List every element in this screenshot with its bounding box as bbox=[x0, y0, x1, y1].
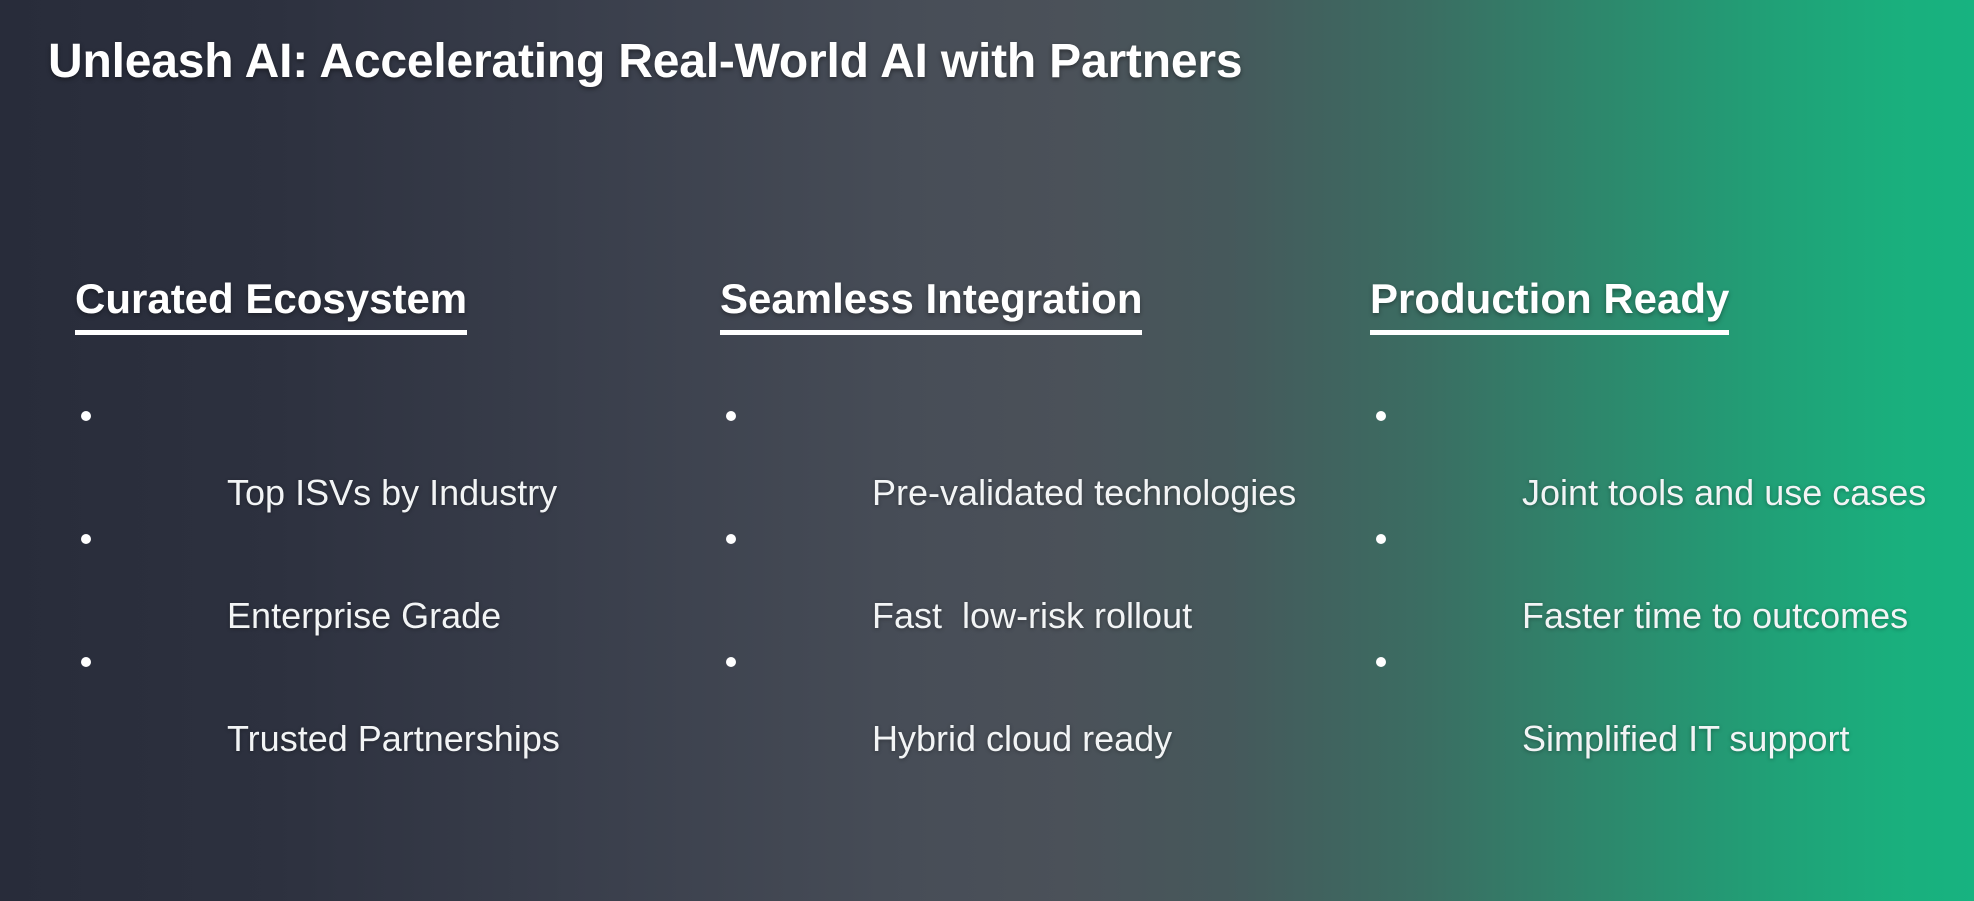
page-title: Unleash AI: Accelerating Real-World AI w… bbox=[48, 34, 1648, 89]
column-curated-ecosystem: Curated Ecosystem Top ISVs by Industry E… bbox=[75, 276, 675, 704]
list-item-label: Top ISVs by Industry bbox=[227, 475, 557, 511]
bullet-dot-icon bbox=[81, 657, 91, 667]
bullet-dot-icon bbox=[1376, 657, 1386, 667]
bullet-dot-icon bbox=[1376, 534, 1386, 544]
list-item-label: Fast low-risk rollout bbox=[872, 598, 1192, 634]
bullet-list: Top ISVs by Industry Enterprise Grade Tr… bbox=[75, 403, 675, 772]
column-heading: Production Ready bbox=[1370, 276, 1729, 335]
list-item-label: Simplified IT support bbox=[1522, 721, 1849, 757]
column-heading: Curated Ecosystem bbox=[75, 276, 467, 335]
bullet-dot-icon bbox=[1376, 411, 1386, 421]
list-item-label: Faster time to outcomes bbox=[1522, 598, 1908, 634]
column-seamless-integration: Seamless Integration Pre-validated techn… bbox=[720, 276, 1320, 704]
bullet-dot-icon bbox=[726, 657, 736, 667]
bullet-dot-icon bbox=[81, 534, 91, 544]
list-item: Fast low-risk rollout bbox=[720, 526, 1320, 649]
bullet-list: Pre-validated technologies Fast low-risk… bbox=[720, 403, 1320, 772]
column-production-ready: Production Ready Joint tools and use cas… bbox=[1370, 276, 1970, 704]
list-item: Enterprise Grade bbox=[75, 526, 675, 649]
list-item: Joint tools and use cases bbox=[1370, 403, 1970, 526]
presentation-slide: Unleash AI: Accelerating Real-World AI w… bbox=[0, 0, 1974, 901]
column-heading: Seamless Integration bbox=[720, 276, 1142, 335]
list-item-label: Trusted Partnerships bbox=[227, 721, 560, 757]
list-item: Hybrid cloud ready bbox=[720, 649, 1320, 772]
bullet-dot-icon bbox=[726, 411, 736, 421]
list-item: Simplified IT support bbox=[1370, 649, 1970, 772]
list-item-label: Joint tools and use cases bbox=[1522, 475, 1926, 511]
columns-container: Curated Ecosystem Top ISVs by Industry E… bbox=[0, 276, 1974, 876]
bullet-dot-icon bbox=[81, 411, 91, 421]
list-item-label: Enterprise Grade bbox=[227, 598, 501, 634]
bullet-dot-icon bbox=[726, 534, 736, 544]
bullet-list: Joint tools and use cases Faster time to… bbox=[1370, 403, 1970, 772]
list-item-label: Hybrid cloud ready bbox=[872, 721, 1172, 757]
list-item-label: Pre-validated technologies bbox=[872, 475, 1296, 511]
list-item: Pre-validated technologies bbox=[720, 403, 1320, 526]
list-item: Faster time to outcomes bbox=[1370, 526, 1970, 649]
list-item: Top ISVs by Industry bbox=[75, 403, 675, 526]
list-item: Trusted Partnerships bbox=[75, 649, 675, 772]
